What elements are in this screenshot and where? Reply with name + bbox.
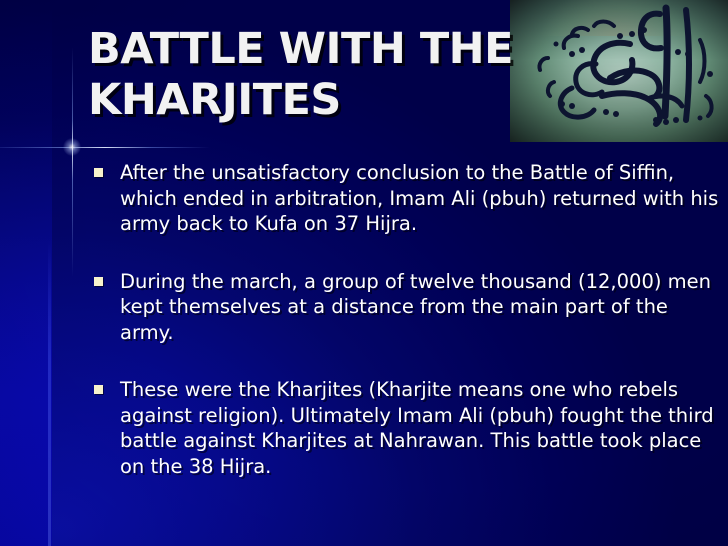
slide-background-left-band [0,0,52,546]
sparkle-core [63,138,81,156]
square-bullet-icon [94,385,103,394]
presentation-slide: BATTLE WITH THE KHARJITES After the unsa… [0,0,728,546]
sparkle-vertical-ray [72,47,73,277]
slide-background-left-band-edge [48,240,51,546]
square-bullet-icon [94,277,103,286]
list-item-text: After the unsatisfactory conclusion to t… [120,160,722,237]
list-item: During the march, a group of twelve thou… [90,269,722,346]
list-item-text: During the march, a group of twelve thou… [120,269,722,346]
list-item: These were the Kharjites (Kharjite means… [90,377,722,479]
list-item-text: These were the Kharjites (Kharjite means… [120,377,722,479]
arabic-calligraphy-image [510,0,728,142]
page-title: BATTLE WITH THE KHARJITES [88,24,518,126]
calligraphy-strokes-icon [510,0,728,142]
bullet-list: After the unsatisfactory conclusion to t… [90,160,722,479]
sparkle-horizontal-ray [0,147,210,148]
square-bullet-icon [94,168,103,177]
list-item: After the unsatisfactory conclusion to t… [90,160,722,237]
